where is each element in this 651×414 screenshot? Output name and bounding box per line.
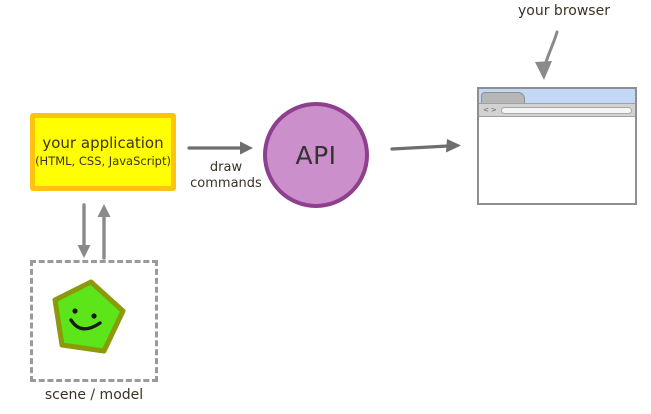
browser-titlebar [479,89,635,104]
arrow-label-to-browser [535,32,557,80]
draw-commands-line2: commands [190,176,262,192]
scene-model-label: scene / model [30,387,158,403]
browser-tab[interactable] [481,92,525,103]
browser-toolbar: < > [479,104,635,117]
browser-label: your browser [518,3,610,19]
draw-commands-label: draw commands [190,160,262,193]
arrow-app-to-scene [78,205,91,258]
arrow-api-to-browser [392,139,461,153]
scene-model-box [30,260,158,382]
arrow-scene-to-app [98,204,111,258]
api-node[interactable]: API [263,102,369,208]
application-box-title: your application [42,135,163,152]
application-box[interactable]: your application (HTML, CSS, JavaScript) [30,113,176,191]
browser-viewport [479,117,635,202]
draw-commands-line1: draw [190,160,262,176]
application-box-subtitle: (HTML, CSS, JavaScript) [35,154,171,169]
browser-window[interactable]: < > [477,87,637,205]
forward-arrow-icon[interactable]: > [490,107,498,114]
arrow-app-to-api [189,142,253,155]
back-arrow-icon[interactable]: < [482,107,490,114]
api-node-label: API [295,141,336,170]
diagram-canvas: your application (HTML, CSS, JavaScript)… [0,0,651,414]
address-bar-input[interactable] [501,107,632,114]
